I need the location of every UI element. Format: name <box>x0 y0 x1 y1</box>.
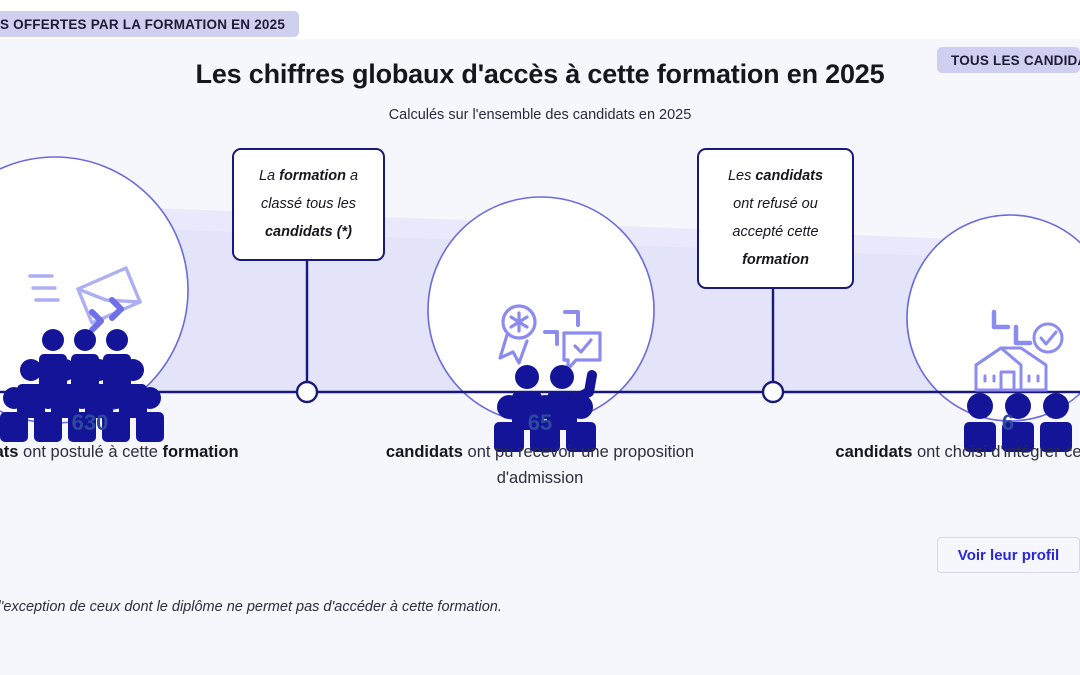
callout-formation-classement: La formation a classé tous les candidats… <box>232 148 385 261</box>
callout-candidats-reponse: Les candidats ont refusé ou accepté cett… <box>697 148 854 289</box>
callout-2-line-2: ont refusé ou <box>709 190 842 218</box>
callout-1-line-3: candidats (*) <box>244 218 373 246</box>
callout-1-line-1: La formation a <box>244 162 373 190</box>
callout-2-line-3: accepté cette <box>709 218 842 246</box>
callout-1-line-2: classé tous les <box>244 190 373 218</box>
stage-circle-2 <box>428 197 654 423</box>
stat-applied-value: 630 <box>0 409 275 437</box>
stat-enrolled: 6 candidats ont choisi d'intégrer cette … <box>823 409 1080 465</box>
stat-admission-label: candidats ont pu recevoir une propositio… <box>358 439 722 491</box>
callout-2-line-4: formation <box>709 246 842 274</box>
tab-all-candidates[interactable]: TOUS LES CANDIDATS <box>937 47 1080 73</box>
stat-applied-label: candidats ont postulé à cette formation <box>0 439 275 465</box>
stat-admission-proposals: 65 candidats ont pu recevoir une proposi… <box>358 409 722 491</box>
funnel-diagram <box>0 0 1080 636</box>
footnote: (*) à l'exception de ceux dont le diplôm… <box>0 599 666 615</box>
check-circle-icon <box>1034 324 1062 352</box>
stat-enrolled-value: 6 <box>823 409 1080 437</box>
view-profile-button[interactable]: Voir leur profil <box>937 537 1080 573</box>
callout-2-line-1: Les candidats <box>709 162 842 190</box>
stat-enrolled-label: candidats ont choisi d'intégrer cette fo… <box>823 439 1080 465</box>
screenshot-root: S OFFERTES PAR LA FORMATION EN 2025 TOUS… <box>0 0 1080 675</box>
stat-admission-value: 65 <box>358 409 722 437</box>
stat-applied: 630 candidats ont postulé à cette format… <box>0 409 275 465</box>
connector-node-2 <box>763 382 783 402</box>
connector-node-1 <box>297 382 317 402</box>
